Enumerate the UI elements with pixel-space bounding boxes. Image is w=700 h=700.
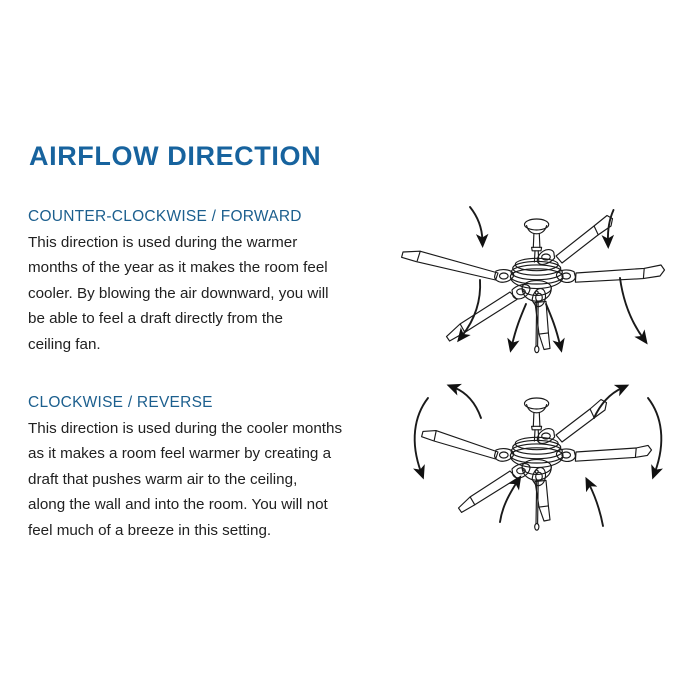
lower-right-up-arrow bbox=[589, 484, 603, 526]
body-line: along the wall and into the room. You wi… bbox=[28, 492, 394, 518]
fan-blade bbox=[556, 400, 607, 443]
section-body-reverse: This direction is used during the cooler… bbox=[28, 416, 394, 544]
fan-blade-bracket bbox=[532, 468, 545, 486]
section-reverse: CLOCKWISE / REVERSE This direction is us… bbox=[28, 393, 394, 543]
body-line: as it makes a room feel warmer by creati… bbox=[28, 441, 394, 467]
body-line: draft that pushes warm air to the ceilin… bbox=[28, 467, 394, 493]
body-line: feel much of a breeze in this setting. bbox=[28, 518, 394, 544]
fan-blade bbox=[459, 471, 518, 512]
body-line: This direction is used during the warmer bbox=[28, 230, 380, 256]
ceiling-fan-reverse-diagram bbox=[398, 374, 678, 544]
outer-left-down-arrow bbox=[415, 398, 428, 472]
upper-right-up-arrow bbox=[594, 388, 622, 418]
fan-canopy-icon bbox=[525, 219, 549, 262]
body-line: ceiling fan. bbox=[28, 332, 380, 358]
section-heading-forward: COUNTER-CLOCKWISE / FORWARD bbox=[28, 207, 380, 228]
center-left-down-arrow bbox=[512, 304, 526, 345]
fan-canopy-icon bbox=[525, 398, 549, 441]
fan-blade bbox=[575, 445, 651, 461]
section-forward: COUNTER-CLOCKWISE / FORWARD This directi… bbox=[28, 207, 380, 357]
section-heading-reverse: CLOCKWISE / REVERSE bbox=[28, 393, 394, 414]
fan-blade bbox=[402, 251, 498, 280]
section-body-forward: This direction is used during the warmer… bbox=[28, 230, 380, 358]
page-title: AIRFLOW DIRECTION bbox=[29, 143, 321, 170]
lower-left-down-arrow bbox=[462, 280, 480, 336]
body-line: This direction is used during the cooler… bbox=[28, 416, 394, 442]
fan-blade bbox=[422, 431, 498, 459]
body-line: months of the year as it makes the room … bbox=[28, 255, 380, 281]
body-line: be able to feel a draft directly from th… bbox=[28, 306, 380, 332]
left-down-arrow bbox=[470, 207, 482, 240]
fan-blade bbox=[447, 292, 518, 341]
body-line: cooler. By blowing the air downward, you… bbox=[28, 281, 380, 307]
fan-blade-bracket bbox=[532, 289, 545, 307]
page-root: AIRFLOW DIRECTION COUNTER-CLOCKWISE / FO… bbox=[0, 0, 700, 700]
lower-right-down-arrow bbox=[620, 278, 643, 338]
ceiling-fan-forward-diagram bbox=[398, 200, 678, 370]
outer-right-down-arrow bbox=[648, 398, 661, 472]
upper-left-up-arrow bbox=[454, 388, 481, 419]
airflow-arrow-group bbox=[462, 207, 643, 345]
fan-blade bbox=[556, 216, 613, 264]
